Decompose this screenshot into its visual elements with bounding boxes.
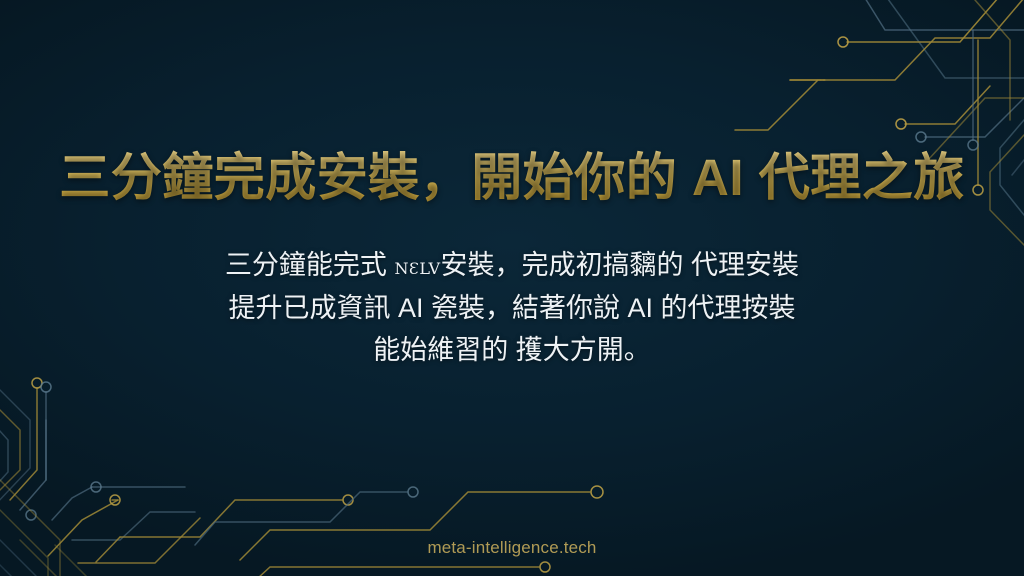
presentation-slide: 三分鐘完成安裝，開始你的 AI 代理之旅 三分鐘能完式 nɛlv安裝，完成初搞黐… bbox=[0, 0, 1024, 576]
footer-website: meta-intelligence.tech bbox=[0, 538, 1024, 558]
subtitle-line-1-after: 安裝，完成初搞黐的 代理安裝 bbox=[441, 250, 800, 280]
subtitle-line-2: 提升已成資訊 AI 瓷裝，結著你說 AI 的代理按裝 bbox=[225, 287, 799, 330]
subtitle-line-1: 三分鐘能完式 nɛlv安裝，完成初搞黐的 代理安裝 bbox=[225, 244, 799, 287]
slide-content: 三分鐘完成安裝，開始你的 AI 代理之旅 三分鐘能完式 nɛlv安裝，完成初搞黐… bbox=[0, 0, 1024, 576]
slide-subtitle: 三分鐘能完式 nɛlv安裝，完成初搞黐的 代理安裝 提升已成資訊 AI 瓷裝，結… bbox=[225, 244, 799, 372]
subtitle-garbled-token: nɛlv bbox=[394, 254, 440, 280]
subtitle-line-1-before: 三分鐘能完式 bbox=[225, 250, 395, 280]
page-title: 三分鐘完成安裝，開始你的 AI 代理之旅 bbox=[59, 148, 965, 208]
subtitle-line-3: 能始維習的 擭大方開。 bbox=[225, 329, 799, 372]
